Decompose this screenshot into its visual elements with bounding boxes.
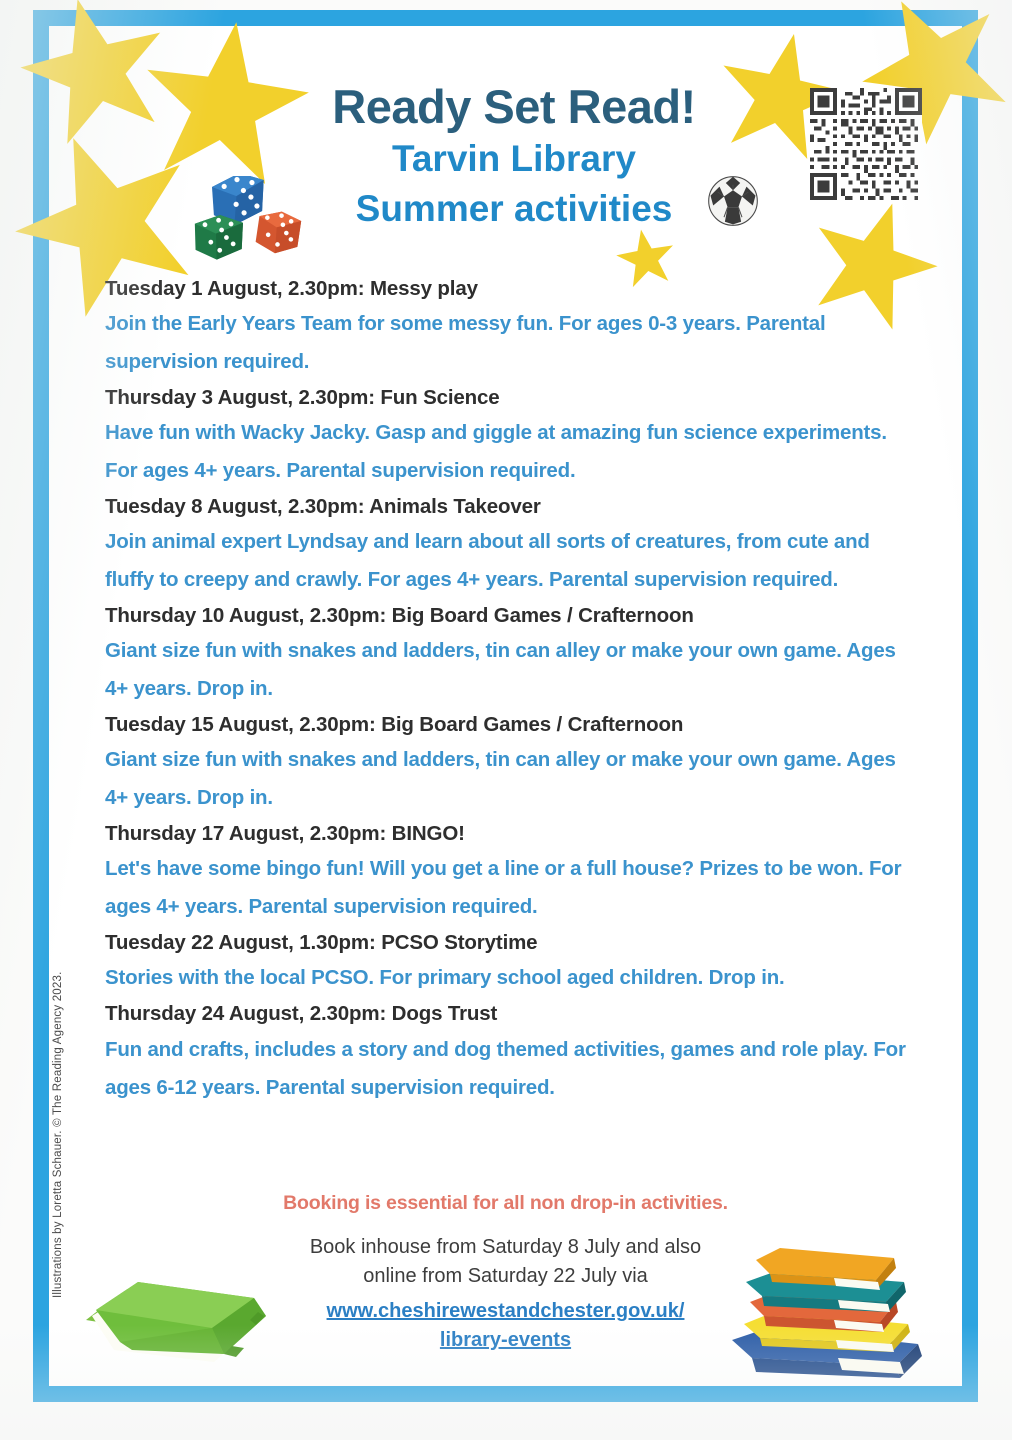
subtitle-activities: Summer activities xyxy=(279,187,749,231)
event-item: Tuesday 22 August, 1.30pm: PCSO Storytim… xyxy=(105,926,917,997)
event-heading: Thursday 24 August, 2.30pm: Dogs Trust xyxy=(105,997,917,1030)
booking-essential-note: Booking is essential for all non drop-in… xyxy=(49,1192,962,1215)
illustration-credit: Illustrations by Loretta Schauer. © The … xyxy=(52,972,64,1299)
football-icon xyxy=(706,174,760,228)
page-title: Ready Set Read! xyxy=(279,82,749,131)
event-description: Let's have some bingo fun! Will you get … xyxy=(105,850,917,926)
event-description: Giant size fun with snakes and ladders, … xyxy=(105,632,917,708)
poster-root: Ready Set Read! Tarvin Library Summer ac… xyxy=(0,0,1012,1440)
event-description: Stories with the local PCSO. For primary… xyxy=(105,959,917,997)
event-heading: Thursday 3 August, 2.30pm: Fun Science xyxy=(105,381,917,414)
event-item: Thursday 24 August, 2.30pm: Dogs Trust F… xyxy=(105,997,917,1106)
events-list: Tuesday 1 August, 2.30pm: Messy play Joi… xyxy=(105,272,917,1106)
event-item: Thursday 17 August, 2.30pm: BINGO! Let's… xyxy=(105,817,917,926)
dice-icon xyxy=(192,176,312,266)
booking-instruction-line1: Book inhouse from Saturday 8 July and al… xyxy=(49,1233,962,1262)
event-description: Join animal expert Lyndsay and learn abo… xyxy=(105,523,917,599)
booking-url[interactable]: www.cheshirewestandchester.gov.uk/ libra… xyxy=(49,1297,962,1355)
credit-anchor: Illustrations by Loretta Schauer. © The … xyxy=(52,1298,53,1299)
event-item: Thursday 10 August, 2.30pm: Big Board Ga… xyxy=(105,599,917,708)
booking-instruction-line2: online from Saturday 22 July via xyxy=(49,1262,962,1291)
title-block: Ready Set Read! Tarvin Library Summer ac… xyxy=(279,82,749,231)
event-heading: Tuesday 15 August, 2.30pm: Big Board Gam… xyxy=(105,708,917,741)
event-item: Tuesday 1 August, 2.30pm: Messy play Joi… xyxy=(105,272,917,381)
event-heading: Thursday 10 August, 2.30pm: Big Board Ga… xyxy=(105,599,917,632)
event-description: Join the Early Years Team for some messy… xyxy=(105,305,917,381)
event-description: Fun and crafts, includes a story and dog… xyxy=(105,1031,917,1107)
qr-code-icon[interactable] xyxy=(810,88,922,200)
event-heading: Tuesday 8 August, 2.30pm: Animals Takeov… xyxy=(105,490,917,523)
event-item: Tuesday 8 August, 2.30pm: Animals Takeov… xyxy=(105,490,917,599)
event-heading: Thursday 17 August, 2.30pm: BINGO! xyxy=(105,817,917,850)
event-item: Thursday 3 August, 2.30pm: Fun Science H… xyxy=(105,381,917,490)
subtitle-library: Tarvin Library xyxy=(279,137,749,181)
event-heading: Tuesday 1 August, 2.30pm: Messy play xyxy=(105,272,917,305)
event-heading: Tuesday 22 August, 1.30pm: PCSO Storytim… xyxy=(105,926,917,959)
booking-footer: Booking is essential for all non drop-in… xyxy=(49,1192,962,1355)
event-description: Have fun with Wacky Jacky. Gasp and gigg… xyxy=(105,414,917,490)
booking-url-line2: library-events xyxy=(49,1326,962,1355)
booking-url-line1: www.cheshirewestandchester.gov.uk/ xyxy=(49,1297,962,1326)
event-description: Giant size fun with snakes and ladders, … xyxy=(105,741,917,817)
event-item: Tuesday 15 August, 2.30pm: Big Board Gam… xyxy=(105,708,917,817)
